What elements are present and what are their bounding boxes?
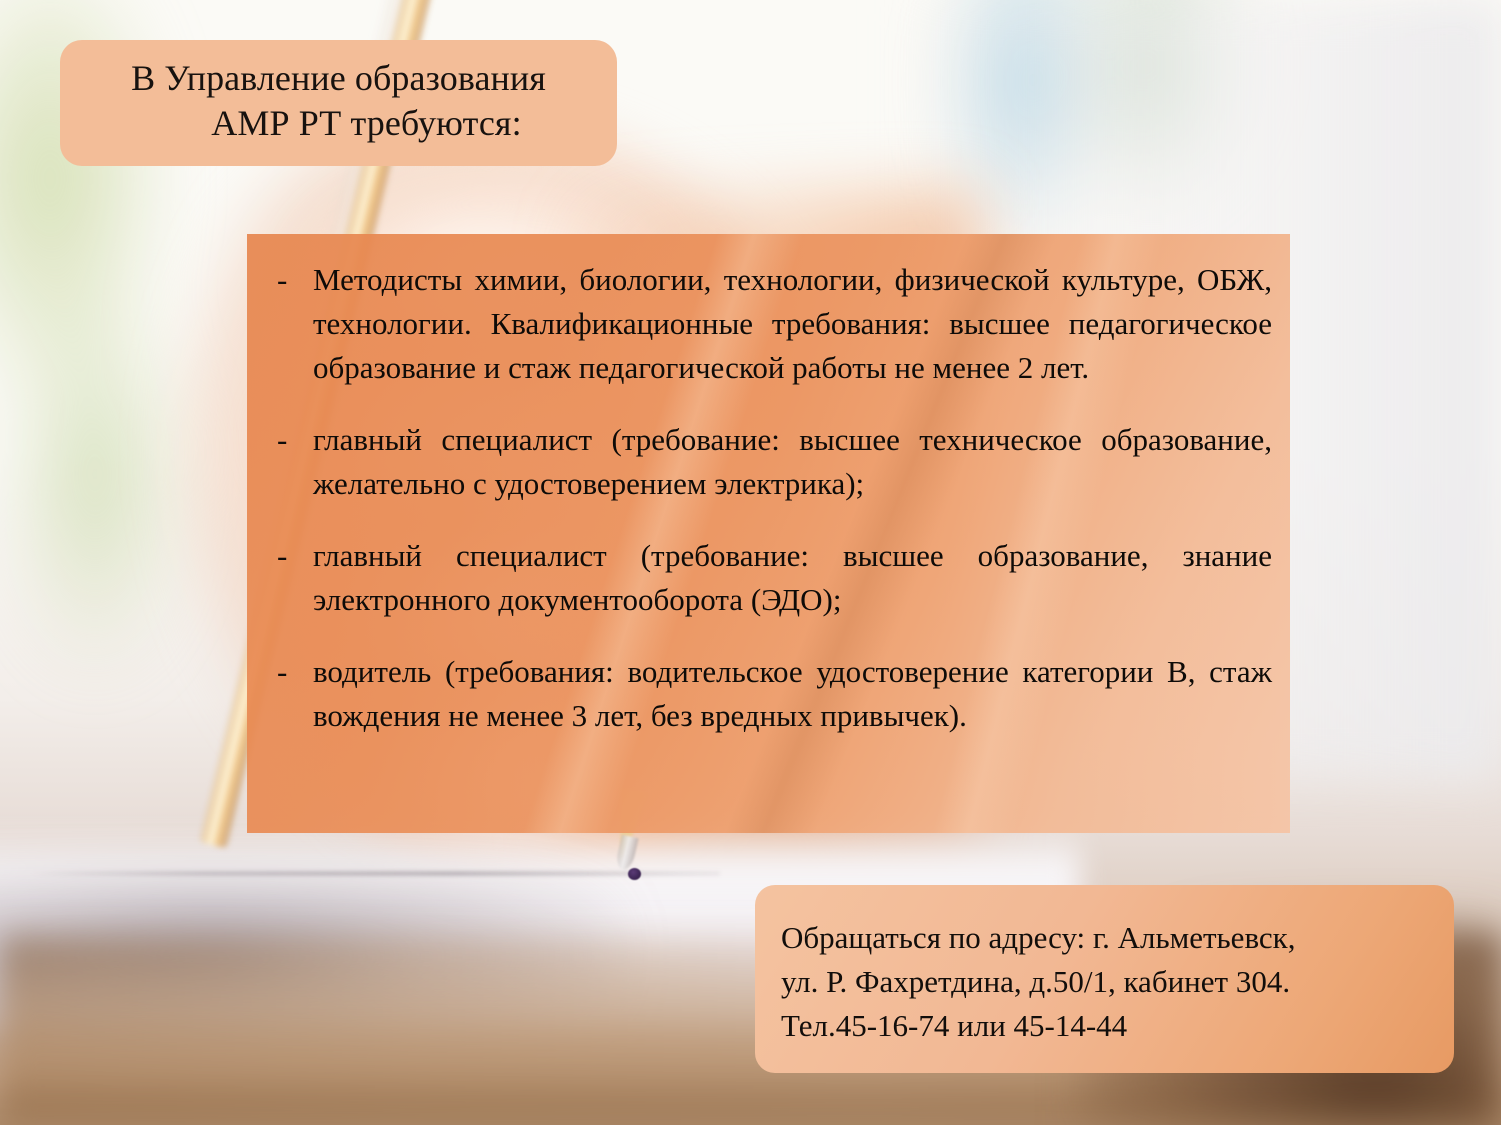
bullet-marker: - xyxy=(265,534,313,578)
slide-canvas: В Управление образования АМР РТ требуютс… xyxy=(0,0,1501,1125)
background-paper-ruled-line xyxy=(30,872,720,875)
vacancy-text-chief-specialist-technical: главный специалист (требование: высшее т… xyxy=(313,418,1272,506)
contact-address-street: ул. Р. Фахретдина, д.50/1, кабинет 304. xyxy=(781,960,1428,1004)
list-item: - Методисты химии, биологии, технологии,… xyxy=(265,258,1272,390)
contact-callout: Обращаться по адресу: г. Альметьевск, ул… xyxy=(755,885,1454,1073)
vacancies-panel: - Методисты химии, биологии, технологии,… xyxy=(247,234,1290,833)
title-line-2: АМР РТ требуются: xyxy=(155,101,521,146)
bullet-marker: - xyxy=(265,258,313,302)
list-item: - главный специалист (требование: высшее… xyxy=(265,534,1272,622)
list-item: - главный специалист (требование: высшее… xyxy=(265,418,1272,506)
vacancy-text-chief-specialist-edo: главный специалист (требование: высшее о… xyxy=(313,534,1272,622)
vacancy-text-methodologists: Методисты химии, биологии, технологии, ф… xyxy=(313,258,1272,390)
bullet-marker: - xyxy=(265,650,313,694)
title-line-1: В Управление образования xyxy=(131,56,546,101)
title-callout: В Управление образования АМР РТ требуютс… xyxy=(60,40,617,166)
contact-phone: Тел.45-16-74 или 45-14-44 xyxy=(781,1004,1428,1048)
vacancies-list: - Методисты химии, биологии, технологии,… xyxy=(265,258,1272,738)
bullet-marker: - xyxy=(265,418,313,462)
pen-ink-tip xyxy=(628,868,641,880)
contact-address-city: Обращаться по адресу: г. Альметьевск, xyxy=(781,916,1428,960)
vacancy-text-driver: водитель (требования: водительское удост… xyxy=(313,650,1272,738)
list-item: - водитель (требования: водительское удо… xyxy=(265,650,1272,738)
